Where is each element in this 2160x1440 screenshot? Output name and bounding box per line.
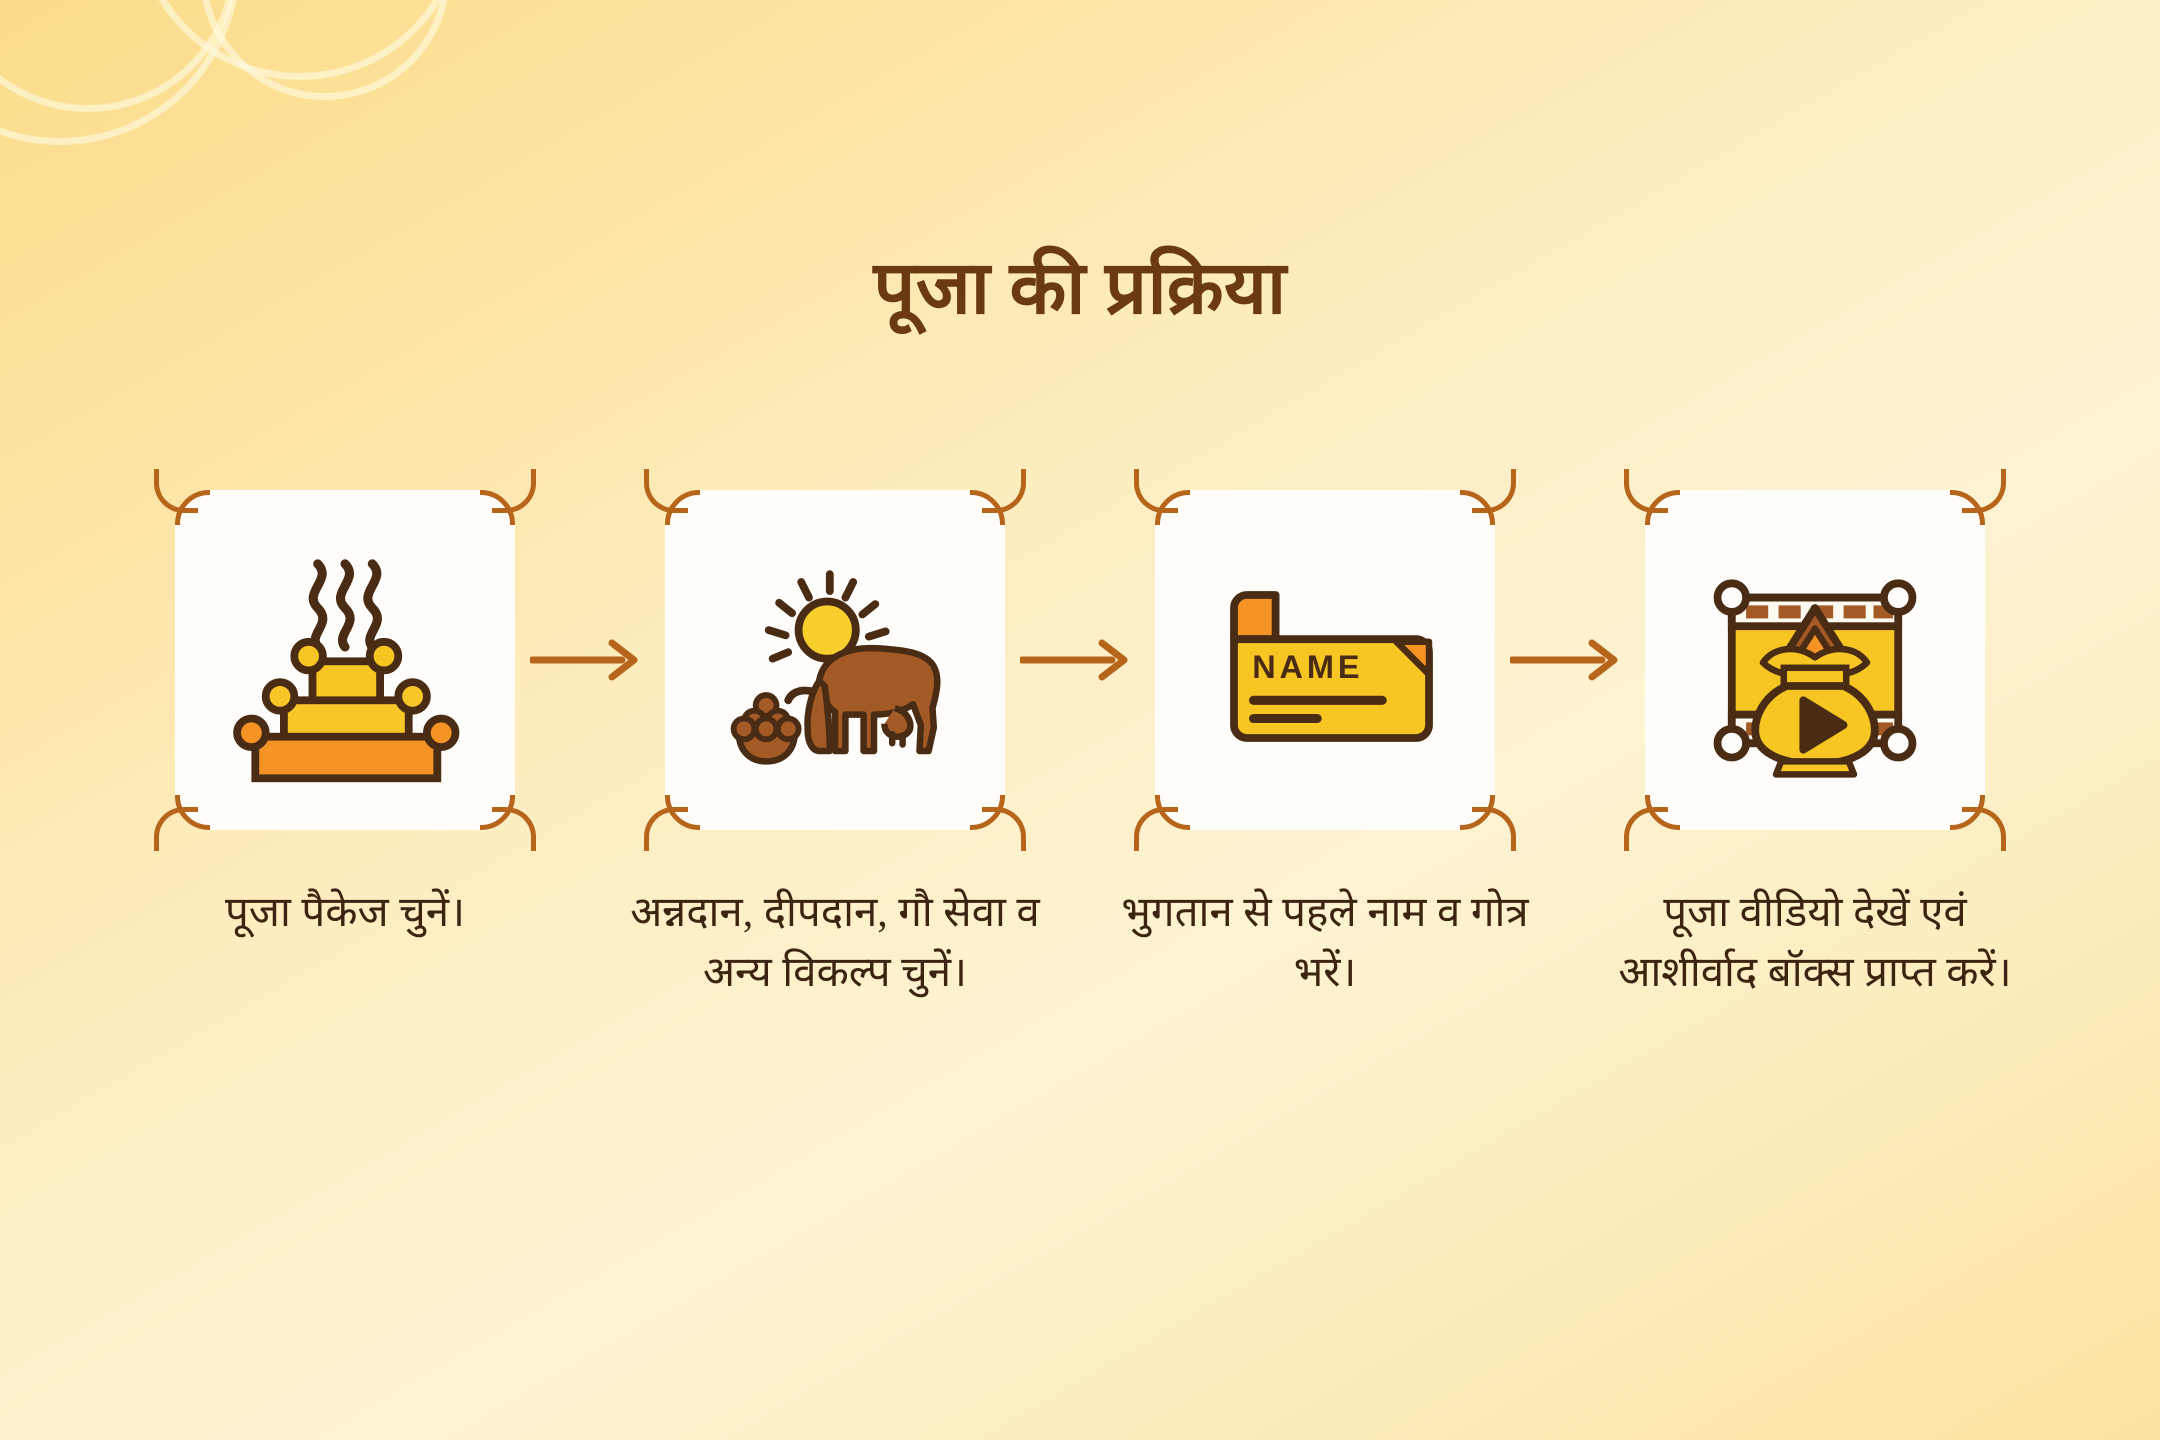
step-4-icon-card[interactable]: [1645, 490, 1985, 830]
name-form-icon: NAME: [1195, 530, 1455, 790]
puja-video-icon: [1685, 530, 1945, 790]
decorative-circle: [0, 0, 238, 112]
step-2-caption: अन्नदान, दीपदान, गौ सेवा व अन्य विकल्प च…: [625, 884, 1045, 1003]
arrow-3-to-4: [1495, 490, 1645, 830]
process-step-2: अन्नदान, दीपदान, गौ सेवा व अन्य विकल्प च…: [665, 490, 1005, 1003]
step-3-caption: भुगतान से पहले नाम व गोत्र भरें।: [1115, 884, 1535, 1003]
step-1-caption: पूजा पैकेज चुनें।: [135, 884, 555, 944]
step-3-icon-card[interactable]: NAME: [1155, 490, 1495, 830]
decorative-circle: [135, 0, 465, 80]
process-step-3: NAME भुगतान से पहले नाम व गोत्र भरें।: [1155, 490, 1495, 1003]
step-1-icon-card[interactable]: [175, 490, 515, 830]
puja-altar-icon: [215, 530, 475, 790]
arrow-1-to-2: [515, 490, 665, 830]
decorative-circle: [200, 0, 450, 100]
cow-seva-icon: [705, 530, 965, 790]
process-flow: पूजा पैकेज चुनें।: [0, 490, 2160, 1003]
decorative-circle: [0, 0, 240, 145]
process-step-1: पूजा पैकेज चुनें।: [175, 490, 515, 944]
page-title: पूजा की प्रक्रिया: [0, 252, 2160, 326]
arrow-2-to-3: [1005, 490, 1155, 830]
process-step-4: पूजा वीडियो देखें एवं आशीर्वाद बॉक्स प्र…: [1645, 490, 1985, 1003]
step-2-icon-card[interactable]: [665, 490, 1005, 830]
name-card-label: NAME: [1252, 649, 1363, 685]
step-4-caption: पूजा वीडियो देखें एवं आशीर्वाद बॉक्स प्र…: [1605, 884, 2025, 1003]
